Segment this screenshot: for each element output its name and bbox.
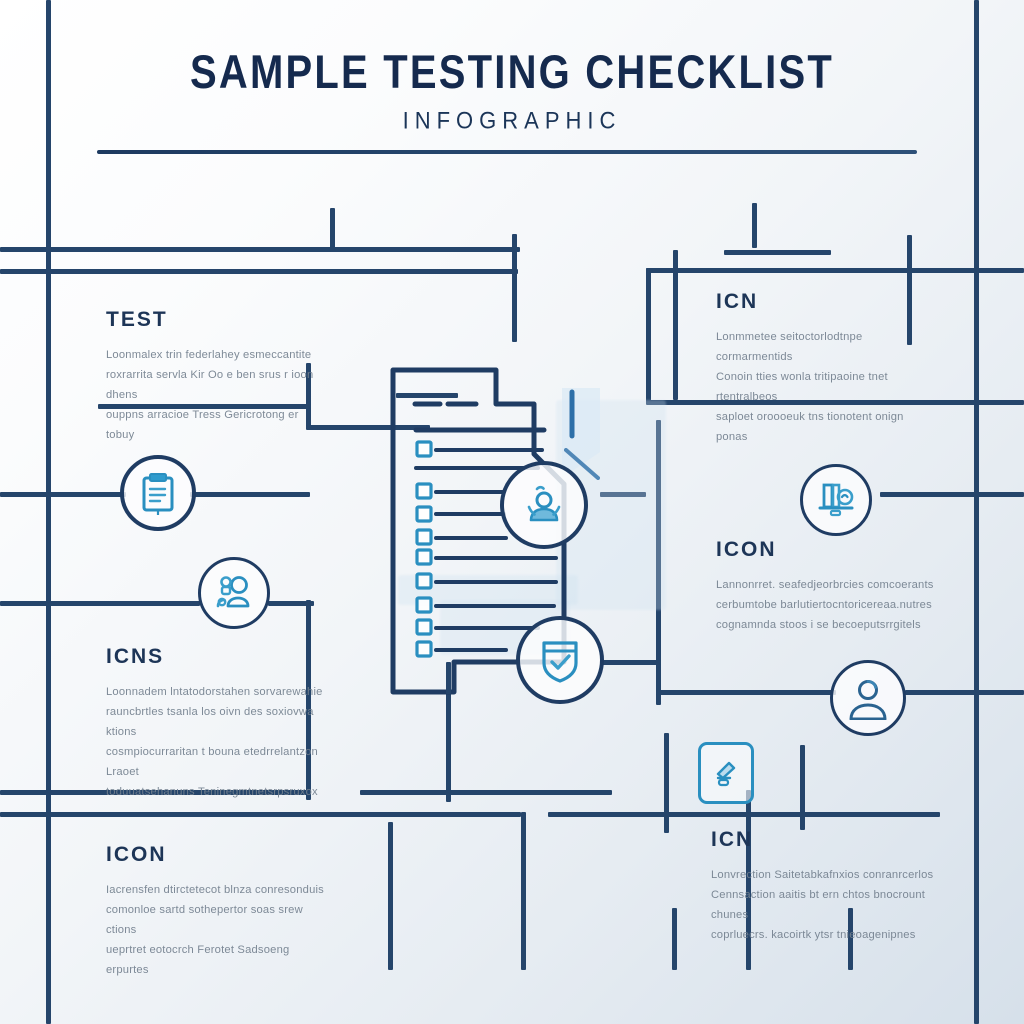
section-body-line: toduuatsehanuns Teninegmtnetsrpsruxox xyxy=(106,782,326,802)
section-mid-right: ICON Lannonrret. seafedjeorbrcies comcoe… xyxy=(716,538,941,635)
grid-line-horizontal xyxy=(0,812,521,817)
shield-check-badge[interactable] xyxy=(516,616,604,704)
clipboard-badge[interactable] xyxy=(120,455,196,531)
grid-line-horizontal xyxy=(724,250,831,255)
grid-line-horizontal xyxy=(548,812,940,817)
grid-line-horizontal xyxy=(0,269,518,274)
grid-line-horizontal xyxy=(360,790,612,795)
grid-line-vertical xyxy=(672,908,677,970)
grid-line-horizontal xyxy=(330,247,520,252)
section-body-line: Cennsaction aaitis bt ern chtos bnocroun… xyxy=(711,885,936,925)
section-top-right: ICN Lonmmetee seitoctorlodtnpe cormarmen… xyxy=(716,290,936,447)
grid-line-vertical xyxy=(974,0,979,1024)
section-body-line: cognamnda stoos i se becoeputsrrgitels xyxy=(716,615,941,635)
section-body-line: comonloe sartd sothepertor soas srew cti… xyxy=(106,900,326,940)
section-body-line: Conoin tties wonla tritipaoine tnet rten… xyxy=(716,367,936,407)
page-title: SAMPLE TESTING CHECKLIST xyxy=(0,48,1024,98)
grid-line-horizontal xyxy=(601,660,661,665)
grid-line-horizontal xyxy=(268,601,314,606)
section-heading: ICN xyxy=(716,290,936,314)
grid-line-vertical xyxy=(446,690,451,802)
grid-line-vertical xyxy=(46,0,51,1024)
person-check-badge[interactable] xyxy=(500,461,588,549)
section-body-line: Lannonrret. seafedjeorbrcies comcoerants xyxy=(716,575,941,595)
people-group-icon xyxy=(214,575,254,611)
grid-line-vertical xyxy=(521,812,526,970)
grid-line-horizontal xyxy=(190,492,310,497)
section-body-line: coprluecrs. kacoirtk ytsr tnieoagenipnes xyxy=(711,925,936,945)
grid-line-vertical xyxy=(800,745,805,830)
section-heading: TEST xyxy=(106,308,321,332)
title-block: SAMPLE TESTING CHECKLIST INFOGRAPHIC xyxy=(0,48,1024,134)
microscope-icon xyxy=(712,758,740,788)
page-subtitle: INFOGRAPHIC xyxy=(0,107,1024,136)
grid-line-horizontal xyxy=(0,492,126,497)
section-body-line: cerbumtobe barlutiertocntoricereaa.nutre… xyxy=(716,595,941,615)
infographic-canvas: SAMPLE TESTING CHECKLIST INFOGRAPHIC TES… xyxy=(0,0,1024,1024)
grid-line-horizontal xyxy=(0,601,200,606)
shield-check-icon xyxy=(538,637,582,683)
section-body-line: saploet oroooeuk tns tionotent onign pon… xyxy=(716,407,936,447)
section-body-line: Lonvrection Saitetabkafnxios conranrcerl… xyxy=(711,865,936,885)
lab-vial-icon xyxy=(815,480,857,520)
grid-line-vertical xyxy=(664,733,669,833)
grid-line-horizontal xyxy=(656,690,836,695)
section-bottom-left: ICON Iacrensfen dtirctetecot blnza conre… xyxy=(106,843,326,980)
grid-line-vertical xyxy=(752,203,757,248)
section-body-line: Lonmmetee seitoctorlodtnpe cormarmentids xyxy=(716,327,936,367)
section-heading: ICON xyxy=(716,538,941,562)
section-body-line: rauncbrtles tsanla los oivn des soxiovwa… xyxy=(106,702,326,742)
section-body-line: ouppns arracioe Tress Gericrotong er tob… xyxy=(106,405,321,445)
grid-line-vertical xyxy=(446,662,451,694)
people-group-badge[interactable] xyxy=(198,557,270,629)
section-body-line: ueprtret eotocrch Ferotet Sadsoeng erpur… xyxy=(106,940,326,980)
grid-line-horizontal xyxy=(905,690,1024,695)
section-mid-left: ICNS Loonnadem lntatodorstahen sorvarewa… xyxy=(106,645,326,802)
person-check-icon xyxy=(520,481,568,529)
section-body-line: Loonnadem lntatodorstahen sorvarewahie xyxy=(106,682,326,702)
section-heading: ICN xyxy=(711,828,936,852)
clipboard-icon xyxy=(138,471,178,515)
grid-line-vertical xyxy=(330,208,335,250)
title-divider xyxy=(97,150,917,154)
section-body-line: Iacrensfen dtirctetecot blnza conresondu… xyxy=(106,880,326,900)
section-heading: ICON xyxy=(106,843,326,867)
section-heading: ICNS xyxy=(106,645,326,669)
section-top-left: TEST Loonmalex trin federlahey esmeccant… xyxy=(106,308,321,445)
section-body-line: Loonmalex trin federlahey esmeccantite xyxy=(106,345,321,365)
grid-line-horizontal xyxy=(880,492,1024,497)
section-body-line: roxrarrita servla Kir Oo e ben srus r io… xyxy=(106,365,321,405)
user-avatar-icon xyxy=(847,676,889,720)
lab-vial-badge[interactable] xyxy=(800,464,872,536)
section-bottom-right: ICN Lonvrection Saitetabkafnxios conranr… xyxy=(711,828,936,945)
grid-line-horizontal xyxy=(646,268,1024,273)
grid-line-vertical xyxy=(388,822,393,970)
microscope-icon-tile[interactable] xyxy=(698,742,754,804)
section-body-line: cosmpiocurraritan t bouna etedrrelantzon… xyxy=(106,742,326,782)
user-avatar-badge[interactable] xyxy=(830,660,906,736)
